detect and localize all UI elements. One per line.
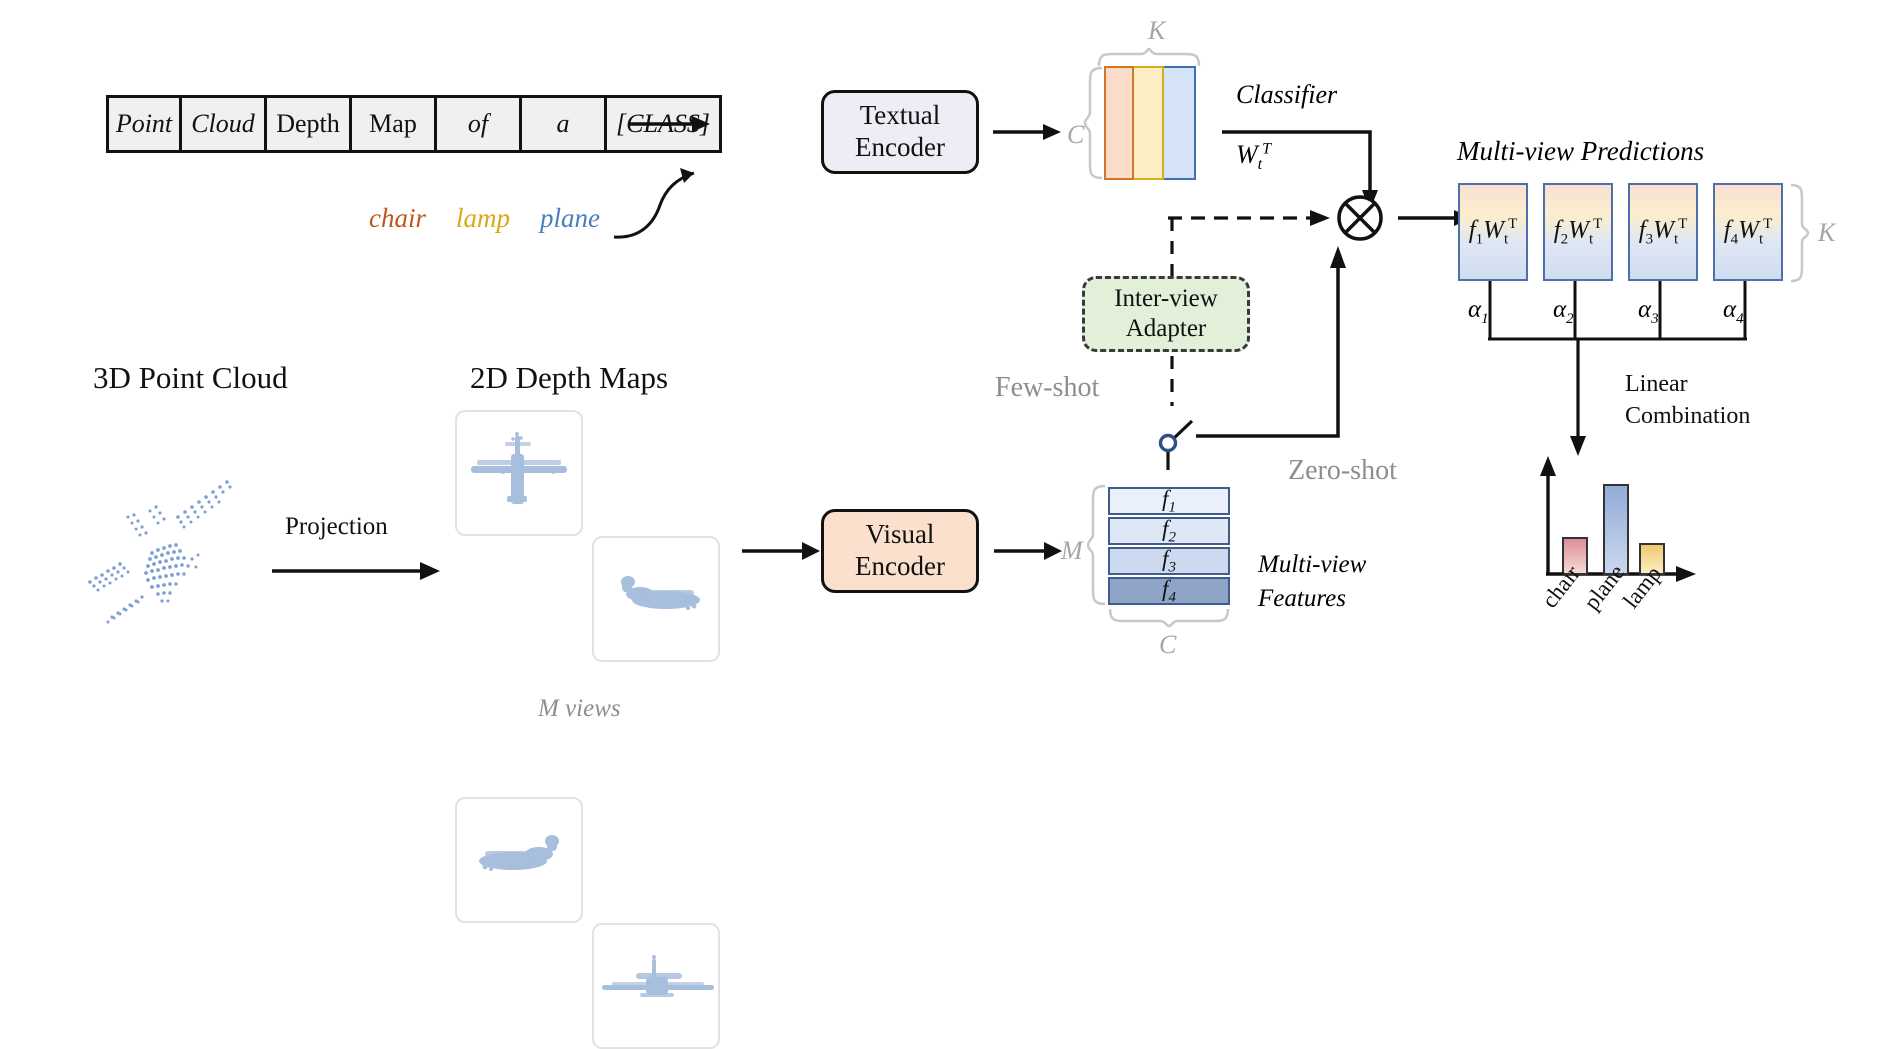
depth-map-side-view-right xyxy=(594,538,720,662)
class-word-list: chair lamp plane xyxy=(369,203,600,234)
few-shot-label: Few-shot xyxy=(995,372,1099,404)
prompt-token-5[interactable]: a xyxy=(522,98,607,150)
depth-map-top-view xyxy=(594,925,720,1049)
depth-map-tile-4[interactable] xyxy=(592,923,720,1049)
predictions-brace-right xyxy=(1790,184,1810,282)
feature-box-3[interactable]: f3 xyxy=(1108,547,1230,575)
depth-map-tile-2[interactable] xyxy=(592,536,720,662)
textual-encoder-label-1: Textual xyxy=(860,100,941,132)
arrow-depthmaps-to-visual-encoder xyxy=(742,540,824,564)
prediction-box-4[interactable]: f4WtT xyxy=(1713,183,1783,281)
arrow-prompt-to-textual-encoder xyxy=(630,112,714,136)
features-brace-bottom-label: C xyxy=(1159,630,1176,660)
alpha-label-4: α4 xyxy=(1723,296,1744,328)
classifier-brace-left xyxy=(1084,66,1104,180)
prompt-token-3[interactable]: Map xyxy=(352,98,437,150)
classifier-matrix xyxy=(1104,66,1196,180)
prompt-token-0[interactable]: Point xyxy=(109,98,182,150)
feature-label-1: f1 xyxy=(1162,486,1176,517)
arrow-textual-encoder-to-classifier xyxy=(993,120,1065,144)
multi-view-predictions-title: Multi-view Predictions xyxy=(1457,136,1704,167)
arrow-to-bar-chart xyxy=(1565,338,1591,460)
adapter-to-operator-dashed-arrow xyxy=(1168,207,1334,231)
prediction-box-3[interactable]: f3WtT xyxy=(1628,183,1698,281)
depth-map-side-view-left xyxy=(457,799,583,923)
prompt-token-1[interactable]: Cloud xyxy=(182,98,267,150)
depth-map-front-view xyxy=(457,412,583,536)
depth-map-tile-3[interactable] xyxy=(455,797,583,923)
features-brace-bottom xyxy=(1108,608,1232,628)
linear-combination-line-1: Linear xyxy=(1625,368,1750,400)
tensor-product-icon xyxy=(1332,190,1388,246)
zero-shot-path xyxy=(1196,240,1366,452)
arrow-visual-encoder-to-features xyxy=(994,540,1066,564)
diagram-canvas: Point Cloud Depth Map of a [CLASS] chair… xyxy=(0,0,1882,746)
curved-arrow-class xyxy=(610,155,730,245)
classifier-column-chair xyxy=(1104,66,1134,180)
visual-encoder-box[interactable]: Visual Encoder xyxy=(821,509,979,593)
depth-maps-caption: M views xyxy=(538,695,621,723)
prediction-expr-2: f2WtT xyxy=(1554,216,1603,248)
visual-encoder-label-1: Visual xyxy=(866,519,935,551)
features-brace-left-label: M xyxy=(1061,536,1083,566)
prediction-bar-chart: chair plane lamp xyxy=(1528,452,1798,642)
linear-combination-label: Linear Combination xyxy=(1625,368,1750,433)
classifier-label: Classifier xyxy=(1236,80,1337,110)
inter-view-adapter-label-2: Adapter xyxy=(1126,314,1207,344)
multi-view-features-line-1: Multi-view xyxy=(1258,548,1366,582)
class-word-plane: plane xyxy=(540,203,600,234)
predictions-brace-right-label: K xyxy=(1818,218,1835,248)
feature-box-4[interactable]: f4 xyxy=(1108,577,1230,605)
prediction-box-1[interactable]: f1WtT xyxy=(1458,183,1528,281)
class-word-lamp: lamp xyxy=(456,203,510,234)
feature-box-2[interactable]: f2 xyxy=(1108,517,1230,545)
zero-shot-label: Zero-shot xyxy=(1288,455,1397,487)
multi-view-features-line-2: Features xyxy=(1258,582,1366,616)
classifier-brace-left-label: C xyxy=(1067,120,1084,150)
depth-maps-title: 2D Depth Maps xyxy=(470,360,668,396)
prompt-token-2[interactable]: Depth xyxy=(267,98,352,150)
feature-label-4: f4 xyxy=(1162,576,1176,607)
alpha-label-3: α3 xyxy=(1638,296,1659,328)
prediction-expr-1: f1WtT xyxy=(1469,216,1518,248)
classifier-brace-top xyxy=(1097,48,1201,68)
projection-arrow xyxy=(272,560,442,584)
classifier-column-lamp xyxy=(1134,66,1164,180)
prediction-box-2[interactable]: f2WtT xyxy=(1543,183,1613,281)
prompt-token-4[interactable]: of xyxy=(437,98,522,150)
alpha-label-1: α1 xyxy=(1468,296,1489,328)
classifier-column-plane xyxy=(1164,66,1196,180)
depth-map-tile-1[interactable] xyxy=(455,410,583,536)
class-word-chair: chair xyxy=(369,203,426,234)
linear-combination-line-2: Combination xyxy=(1625,400,1750,432)
bar-plane xyxy=(1604,485,1628,574)
prediction-expr-3: f3WtT xyxy=(1639,216,1688,248)
point-cloud-visual xyxy=(68,445,278,645)
feature-label-3: f3 xyxy=(1162,546,1176,577)
multi-view-features-caption: Multi-view Features xyxy=(1258,548,1366,616)
prediction-expr-4: f4WtT xyxy=(1724,216,1773,248)
features-brace-left xyxy=(1087,484,1107,606)
alpha-weight-tree xyxy=(1455,281,1795,351)
feature-box-1[interactable]: f1 xyxy=(1108,487,1230,515)
classifier-brace-top-label: K xyxy=(1148,16,1165,46)
projection-label: Projection xyxy=(285,513,388,541)
point-cloud-title: 3D Point Cloud xyxy=(93,360,288,396)
alpha-label-2: α2 xyxy=(1553,296,1574,328)
textual-encoder-box[interactable]: Textual Encoder xyxy=(821,90,979,174)
feature-label-2: f2 xyxy=(1162,516,1176,547)
visual-encoder-label-2: Encoder xyxy=(855,551,945,583)
textual-encoder-label-2: Encoder xyxy=(855,132,945,164)
